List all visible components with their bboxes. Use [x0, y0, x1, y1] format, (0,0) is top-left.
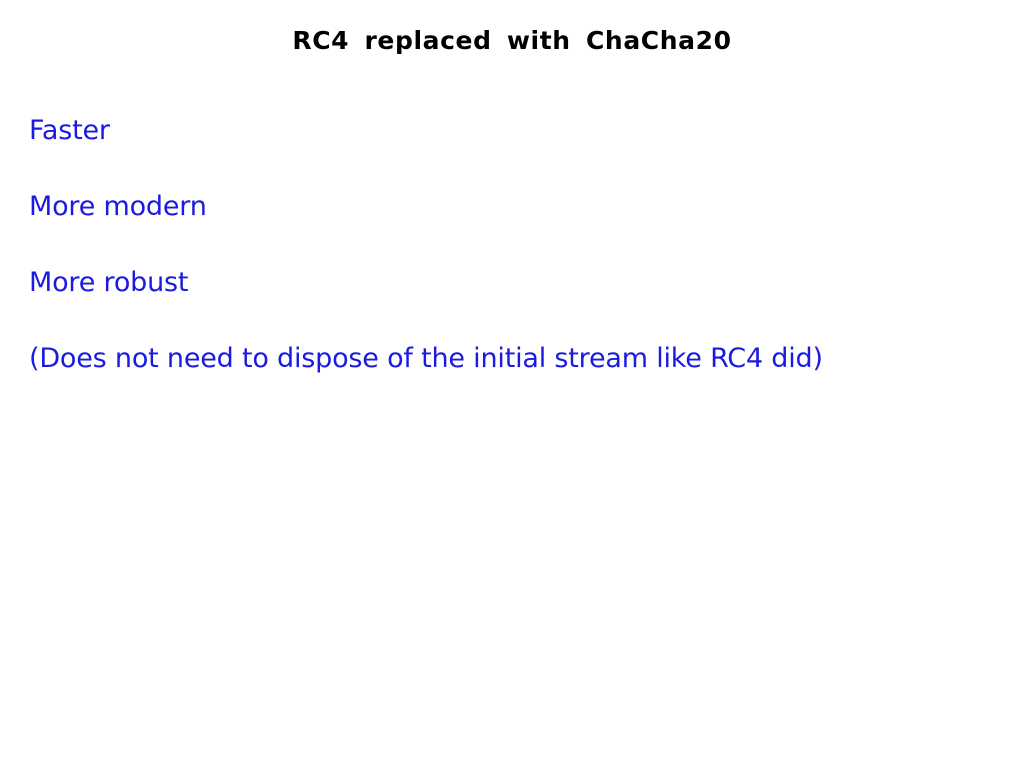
slide-title: RC4 replaced with ChaCha20	[0, 26, 1024, 56]
body-line-more-robust: More robust	[29, 267, 989, 343]
body-line-more-modern: More modern	[29, 191, 989, 267]
slide-body: Faster More modern More robust (Does not…	[29, 115, 989, 374]
body-line-faster: Faster	[29, 115, 989, 191]
body-line-parenthetical-note: (Does not need to dispose of the initial…	[29, 343, 989, 374]
presentation-slide: RC4 replaced with ChaCha20 Faster More m…	[0, 0, 1024, 768]
